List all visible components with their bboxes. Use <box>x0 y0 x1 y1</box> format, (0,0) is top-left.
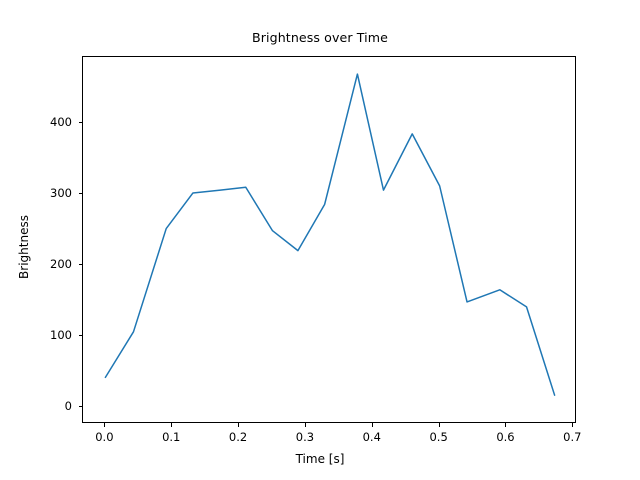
y-axis-label: Brightness <box>17 147 31 347</box>
y-tick-mark <box>79 122 83 123</box>
y-tick-label: 400 <box>50 115 72 129</box>
y-tick-mark <box>79 193 83 194</box>
x-tick-label: 0.1 <box>162 430 180 444</box>
y-tick-label: 200 <box>50 257 72 271</box>
x-tick-mark <box>305 423 306 427</box>
x-tick-label: 0.3 <box>296 430 314 444</box>
x-tick-mark <box>372 423 373 427</box>
matplotlib-figure: Brightness over Time 0.00.10.20.30.40.50… <box>0 0 640 480</box>
x-tick-label: 0.7 <box>563 430 581 444</box>
y-tick-label: 300 <box>50 186 72 200</box>
x-axis-label: Time [s] <box>0 452 640 466</box>
y-tick-label: 100 <box>50 328 72 342</box>
x-tick-mark <box>572 423 573 427</box>
chart-title: Brightness over Time <box>0 30 640 45</box>
line-series-svg <box>83 57 577 424</box>
x-tick-mark <box>104 423 105 427</box>
y-tick-label: 0 <box>65 399 72 413</box>
x-tick-mark <box>171 423 172 427</box>
y-tick-mark <box>79 264 83 265</box>
y-tick-mark <box>79 335 83 336</box>
x-tick-mark <box>505 423 506 427</box>
x-tick-mark <box>238 423 239 427</box>
x-tick-label: 0.2 <box>229 430 247 444</box>
y-tick-mark <box>79 406 83 407</box>
x-tick-label: 0.0 <box>95 430 113 444</box>
series-brightness-line <box>105 74 554 395</box>
x-tick-label: 0.6 <box>496 430 514 444</box>
plot-axes-area <box>82 56 576 423</box>
x-tick-mark <box>439 423 440 427</box>
x-tick-label: 0.4 <box>363 430 381 444</box>
x-tick-label: 0.5 <box>429 430 447 444</box>
